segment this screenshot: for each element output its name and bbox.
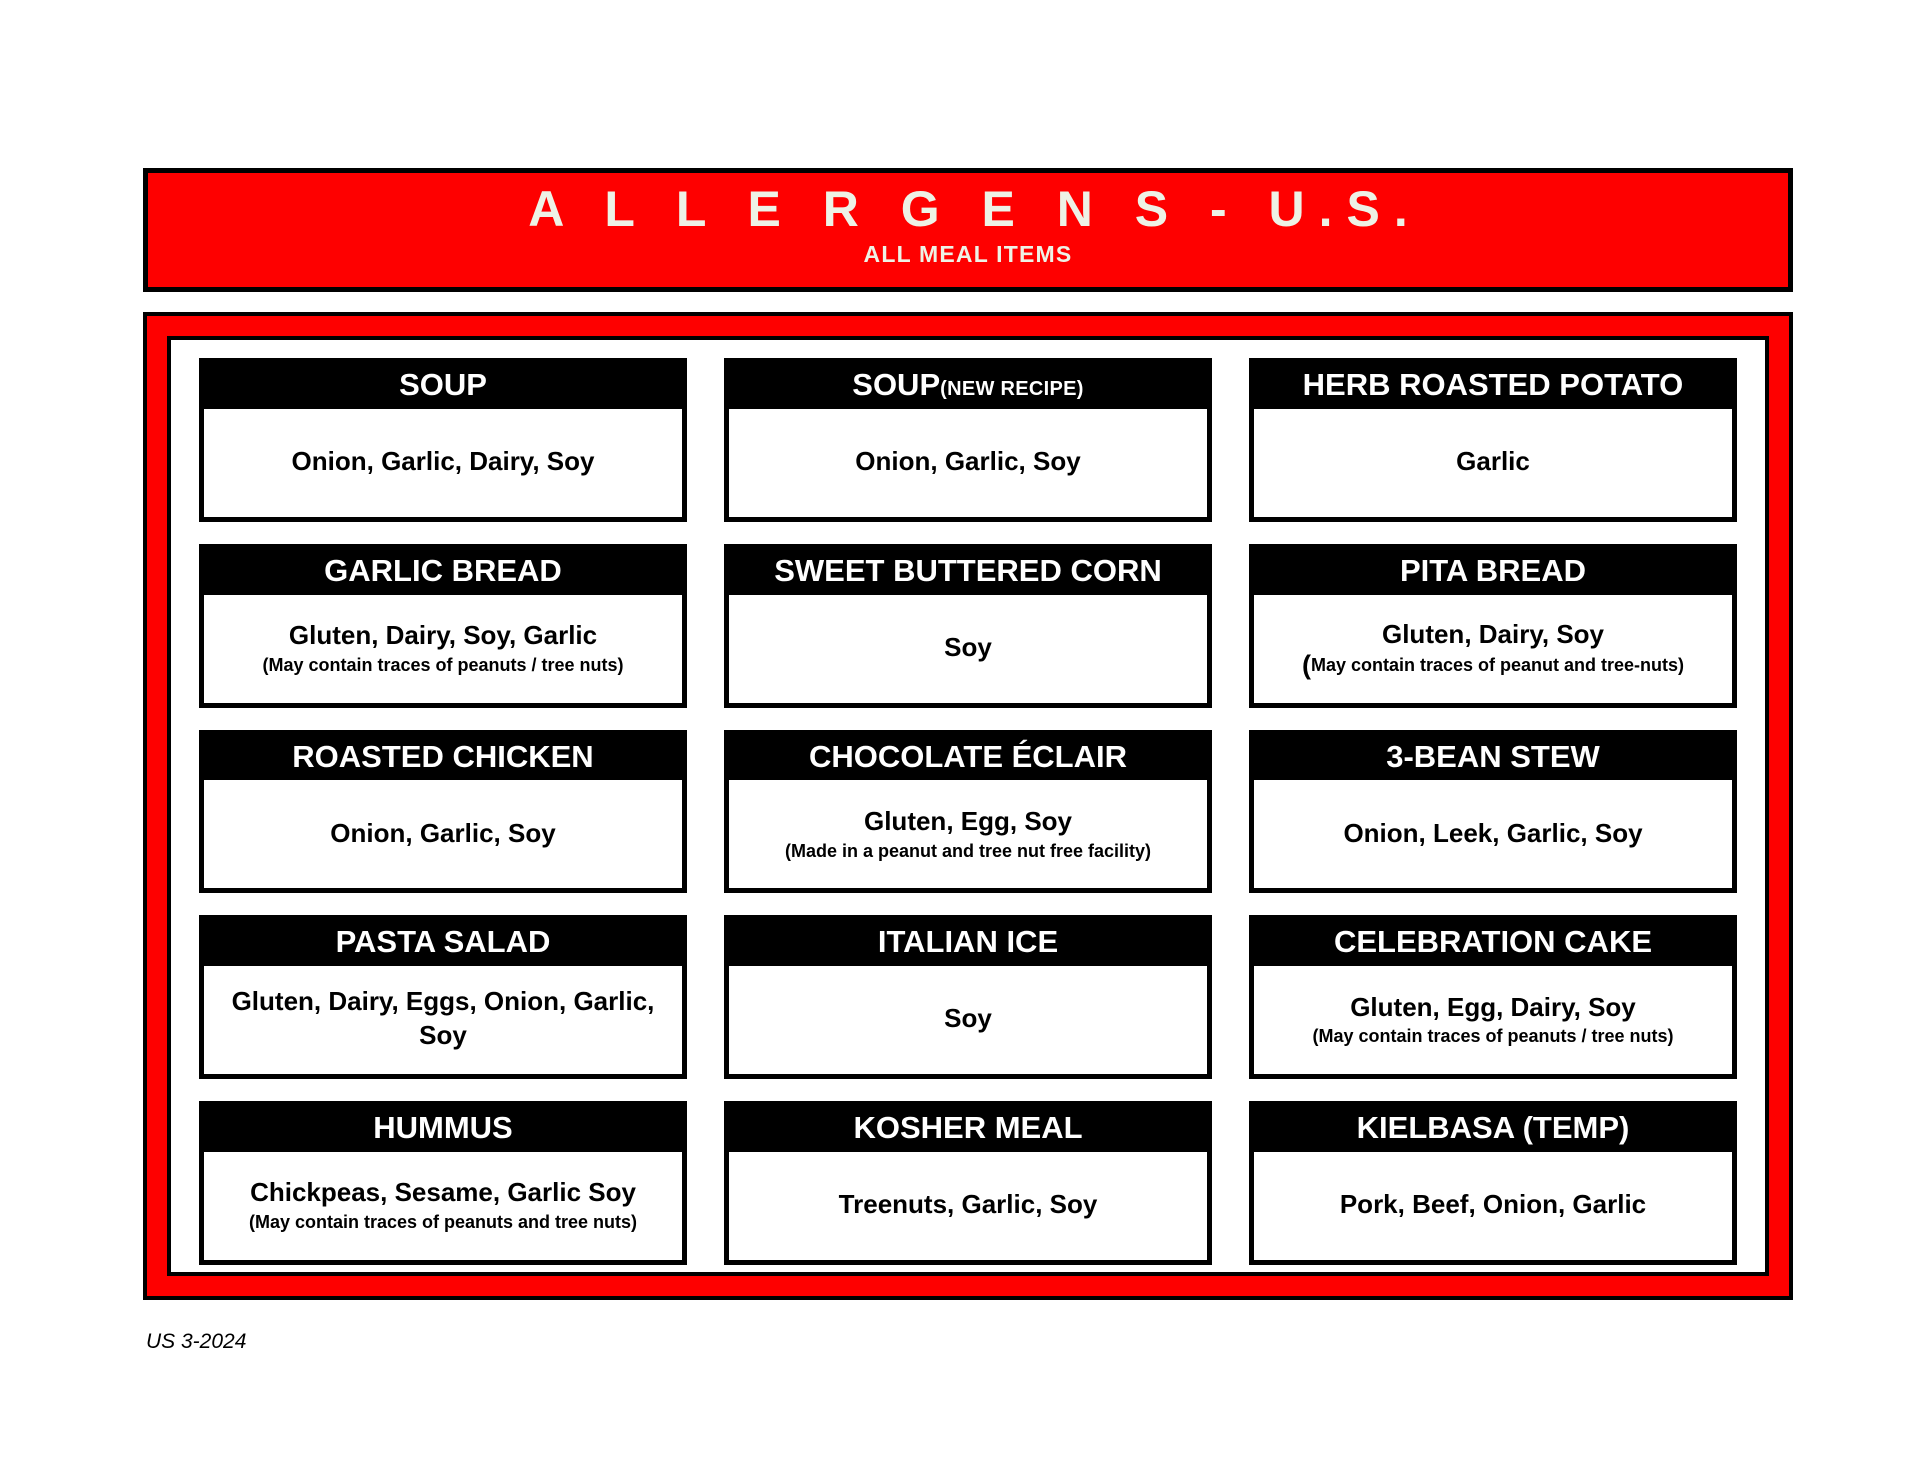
content-panel: SOUPOnion, Garlic, Dairy, SoySOUP(NEW RE… [167, 336, 1769, 1276]
allergen-card-title: PITA BREAD [1254, 549, 1732, 595]
allergen-card: GARLIC BREADGluten, Dairy, Soy, Garlic(M… [199, 544, 687, 708]
allergen-poster: A L L E R G E N S - U.S. ALL MEAL ITEMS … [0, 0, 1920, 1484]
allergen-card: CELEBRATION CAKEGluten, Egg, Dairy, Soy(… [1249, 915, 1737, 1079]
allergen-note: (May contain traces of peanut and tree-n… [1302, 653, 1684, 677]
allergen-card-title: HUMMUS [204, 1106, 682, 1152]
allergen-card-title: KIELBASA (TEMP) [1254, 1106, 1732, 1152]
allergen-list: Gluten, Dairy, Soy, Garlic [289, 619, 597, 653]
allergen-card: SWEET BUTTERED CORNSoy [724, 544, 1212, 708]
revision-footer: US 3-2024 [146, 1330, 246, 1354]
allergen-card-body: Chickpeas, Sesame, Garlic Soy(May contai… [204, 1152, 682, 1260]
allergen-list: Treenuts, Garlic, Soy [839, 1188, 1098, 1222]
card-title-text: PITA BREAD [1400, 553, 1586, 588]
card-title-text: HERB ROASTED POTATO [1303, 367, 1684, 402]
allergen-card: ITALIAN ICESoy [724, 915, 1212, 1079]
card-title-text: ITALIAN ICE [878, 924, 1058, 959]
card-title-text: SOUP [852, 367, 940, 402]
allergen-card: SOUPOnion, Garlic, Dairy, Soy [199, 358, 687, 522]
allergen-note: (May contain traces of peanuts and tree … [249, 1211, 637, 1234]
allergen-card-body: Gluten, Dairy, Soy(May contain traces of… [1254, 595, 1732, 703]
allergen-list: Gluten, Egg, Soy [864, 805, 1072, 839]
allergen-card-body: Pork, Beef, Onion, Garlic [1254, 1152, 1732, 1260]
allergen-card-title: CHOCOLATE ÉCLAIR [729, 735, 1207, 781]
allergen-card-body: Onion, Garlic, Dairy, Soy [204, 409, 682, 517]
card-title-text: HUMMUS [373, 1110, 513, 1145]
allergen-card-title: ROASTED CHICKEN [204, 735, 682, 781]
red-frame: SOUPOnion, Garlic, Dairy, SoySOUP(NEW RE… [143, 312, 1793, 1300]
allergen-card-title: CELEBRATION CAKE [1254, 920, 1732, 966]
allergen-card-body: Onion, Garlic, Soy [204, 780, 682, 888]
card-title-text: 3-BEAN STEW [1386, 739, 1600, 774]
allergen-list: Onion, Garlic, Soy [855, 445, 1080, 479]
allergen-card-title: GARLIC BREAD [204, 549, 682, 595]
card-title-text: GARLIC BREAD [324, 553, 562, 588]
allergen-note: (May contain traces of peanuts / tree nu… [262, 654, 623, 677]
allergen-note: (May contain traces of peanuts / tree nu… [1312, 1025, 1673, 1048]
allergen-card-title: 3-BEAN STEW [1254, 735, 1732, 781]
allergen-card: SOUP(NEW RECIPE)Onion, Garlic, Soy [724, 358, 1212, 522]
allergen-card: PITA BREADGluten, Dairy, Soy(May contain… [1249, 544, 1737, 708]
allergen-list: Soy [944, 631, 992, 665]
allergen-card-body: Gluten, Dairy, Soy, Garlic(May contain t… [204, 595, 682, 703]
card-title-text: SOUP [399, 367, 487, 402]
allergen-card: KOSHER MEALTreenuts, Garlic, Soy [724, 1101, 1212, 1265]
allergen-card: 3-BEAN STEWOnion, Leek, Garlic, Soy [1249, 730, 1737, 894]
allergen-list: Gluten, Dairy, Soy [1382, 618, 1604, 652]
allergen-list: Pork, Beef, Onion, Garlic [1340, 1188, 1646, 1222]
card-title-suffix: (NEW RECIPE) [940, 378, 1084, 400]
card-title-text: PASTA SALAD [336, 924, 551, 959]
card-title-text: KOSHER MEAL [853, 1110, 1082, 1145]
allergen-list: Gluten, Egg, Dairy, Soy [1350, 991, 1636, 1025]
allergen-card-title: ITALIAN ICE [729, 920, 1207, 966]
allergen-card-body: Soy [729, 966, 1207, 1074]
allergen-note-open-paren: ( [1302, 650, 1311, 680]
allergen-list: Onion, Leek, Garlic, Soy [1343, 817, 1642, 851]
allergen-list: Gluten, Dairy, Eggs, Onion, Garlic, Soy [214, 985, 672, 1053]
card-title-text: KIELBASA (TEMP) [1357, 1110, 1630, 1145]
allergen-list: Onion, Garlic, Dairy, Soy [292, 445, 595, 479]
allergen-card-title: SOUP(NEW RECIPE) [729, 363, 1207, 409]
header-banner: A L L E R G E N S - U.S. ALL MEAL ITEMS [143, 168, 1793, 292]
allergen-card: KIELBASA (TEMP)Pork, Beef, Onion, Garlic [1249, 1101, 1737, 1265]
allergen-card: PASTA SALADGluten, Dairy, Eggs, Onion, G… [199, 915, 687, 1079]
allergen-card-body: Gluten, Egg, Dairy, Soy(May contain trac… [1254, 966, 1732, 1074]
allergen-note-text: May contain traces of peanut and tree-nu… [1311, 655, 1684, 675]
allergen-card-body: Soy [729, 595, 1207, 703]
allergen-card-body: Onion, Leek, Garlic, Soy [1254, 780, 1732, 888]
allergen-card-body: Garlic [1254, 409, 1732, 517]
allergen-card-body: Onion, Garlic, Soy [729, 409, 1207, 517]
allergen-card: ROASTED CHICKENOnion, Garlic, Soy [199, 730, 687, 894]
allergen-list: Garlic [1456, 445, 1530, 479]
allergen-card-title: HERB ROASTED POTATO [1254, 363, 1732, 409]
allergen-list: Chickpeas, Sesame, Garlic Soy [250, 1176, 636, 1210]
card-title-text: ROASTED CHICKEN [292, 739, 593, 774]
allergen-card-body: Gluten, Dairy, Eggs, Onion, Garlic, Soy [204, 966, 682, 1074]
page-title: A L L E R G E N S - U.S. [514, 181, 1422, 237]
card-title-text: CHOCOLATE ÉCLAIR [809, 739, 1127, 774]
allergen-note: (Made in a peanut and tree nut free faci… [785, 840, 1151, 863]
allergen-card: HERB ROASTED POTATOGarlic [1249, 358, 1737, 522]
card-title-text: CELEBRATION CAKE [1334, 924, 1652, 959]
allergen-card-grid: SOUPOnion, Garlic, Dairy, SoySOUP(NEW RE… [199, 358, 1737, 1265]
card-title-text: SWEET BUTTERED CORN [774, 553, 1162, 588]
allergen-card: CHOCOLATE ÉCLAIRGluten, Egg, Soy(Made in… [724, 730, 1212, 894]
allergen-card-title: KOSHER MEAL [729, 1106, 1207, 1152]
allergen-card-title: SWEET BUTTERED CORN [729, 549, 1207, 595]
allergen-list: Soy [944, 1002, 992, 1036]
allergen-card-title: PASTA SALAD [204, 920, 682, 966]
allergen-card: HUMMUSChickpeas, Sesame, Garlic Soy(May … [199, 1101, 687, 1265]
allergen-card-body: Treenuts, Garlic, Soy [729, 1152, 1207, 1260]
allergen-list: Onion, Garlic, Soy [330, 817, 555, 851]
allergen-card-body: Gluten, Egg, Soy(Made in a peanut and tr… [729, 780, 1207, 888]
allergen-card-title: SOUP [204, 363, 682, 409]
page-subtitle: ALL MEAL ITEMS [864, 241, 1073, 268]
